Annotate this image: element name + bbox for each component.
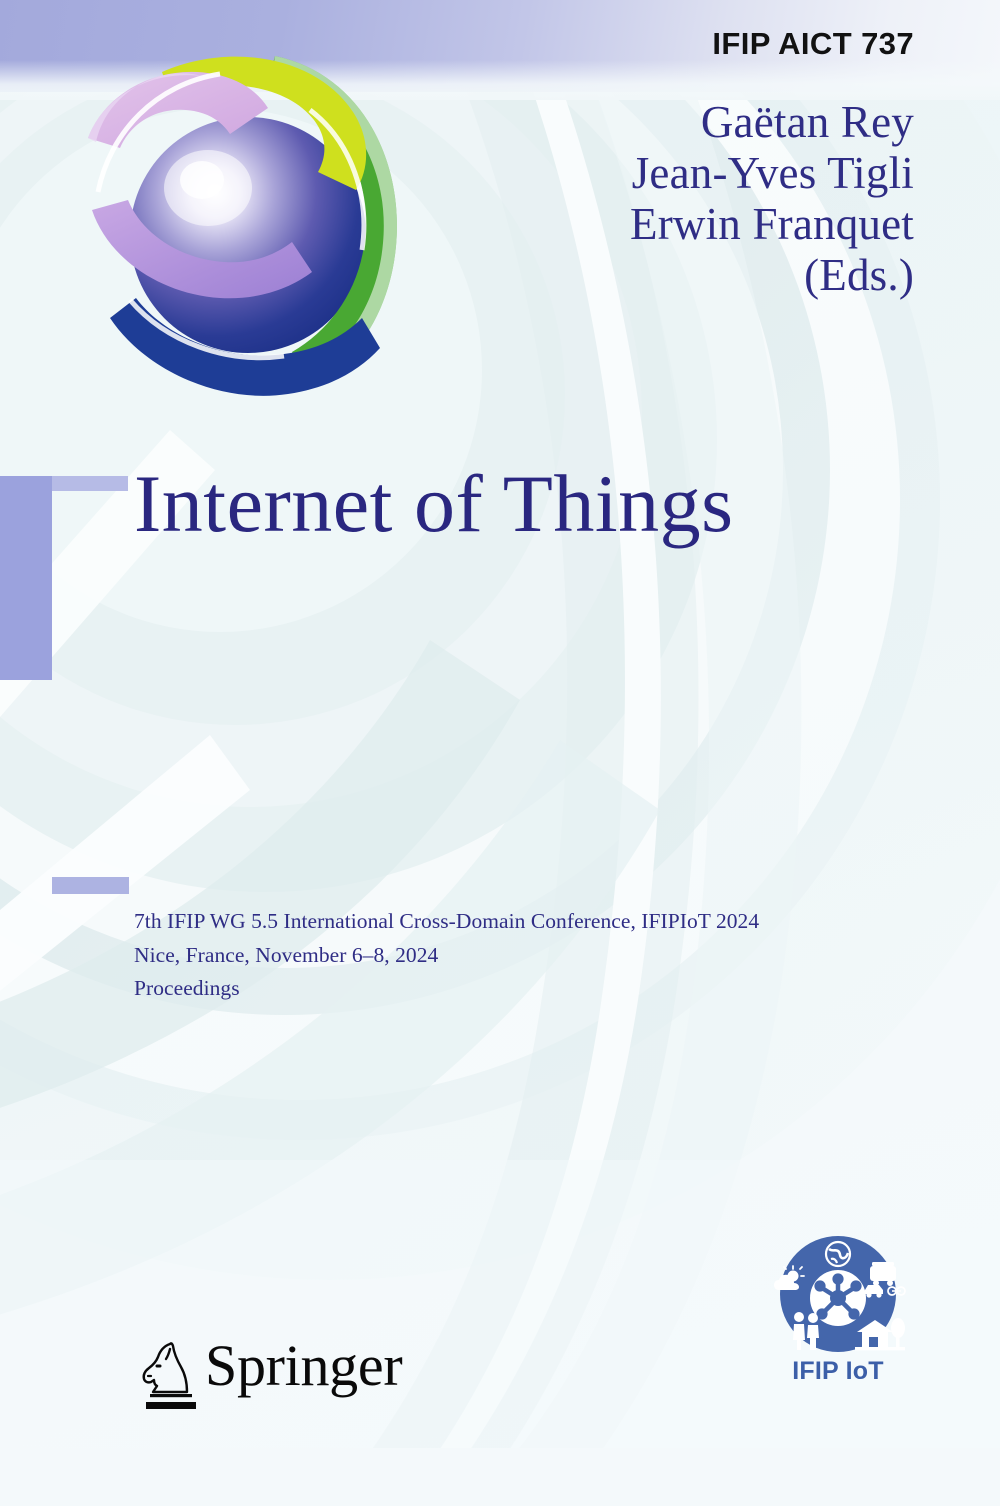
series-id-label: IFIP AICT 737: [712, 26, 914, 62]
springer-wordmark: Springer: [205, 1337, 402, 1395]
book-title: Internet of Things: [134, 463, 734, 545]
accent-bar-vertical: [0, 476, 52, 680]
book-cover: IFIP AICT 737 Gaëtan Rey Jean-Yves Tigli…: [0, 0, 1000, 1506]
editor-name-2: Jean-Yves Tigli: [294, 148, 914, 199]
accent-bar-horizontal: [52, 476, 128, 491]
editors-block: Gaëtan Rey Jean-Yves Tigli Erwin Franque…: [294, 97, 914, 300]
editor-name-1: Gaëtan Rey: [294, 97, 914, 148]
conference-line-3: Proceedings: [134, 972, 759, 1006]
conference-line-1: 7th IFIP WG 5.5 International Cross-Doma…: [134, 905, 759, 939]
conference-line-2: Nice, France, November 6–8, 2024: [134, 939, 759, 973]
accent-dash: [52, 877, 129, 894]
ifip-iot-label: IFIP IoT: [765, 1357, 911, 1386]
editors-suffix: (Eds.): [294, 250, 914, 301]
editor-name-3: Erwin Franquet: [294, 199, 914, 250]
conference-details: 7th IFIP WG 5.5 International Cross-Doma…: [134, 905, 759, 1006]
